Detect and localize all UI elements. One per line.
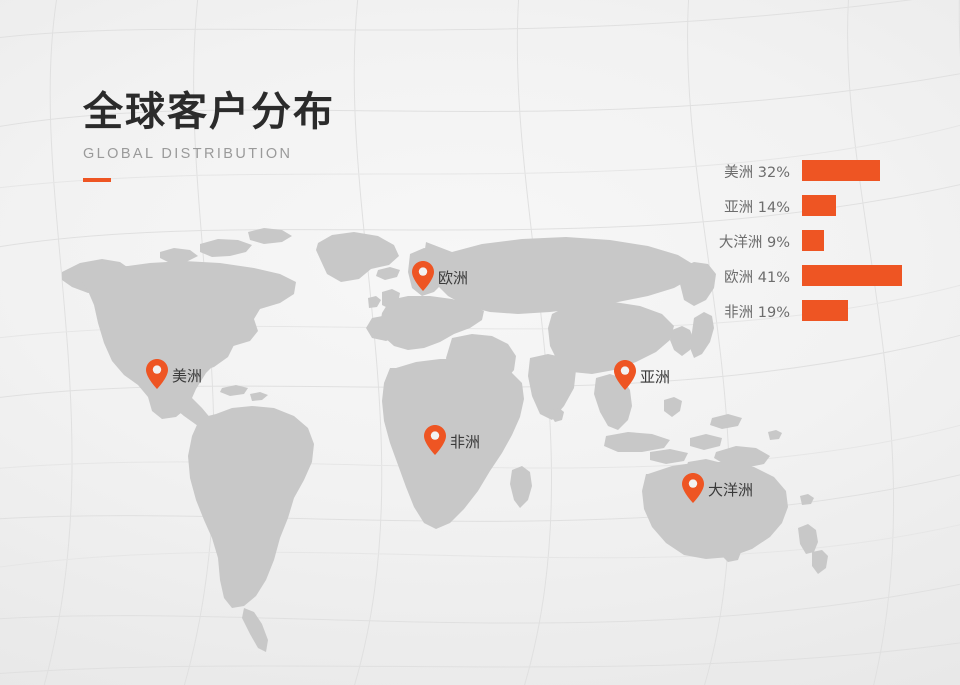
chart-row: 亚洲 14% — [700, 194, 940, 222]
map-marker-label: 亚洲 — [640, 366, 670, 387]
page-title: 全球客户分布 — [83, 92, 335, 132]
map-marker-label: 非洲 — [450, 431, 480, 452]
chart-bar — [802, 300, 848, 321]
chart-row-label: 大洋洲 9% — [719, 231, 790, 252]
distribution-bar-chart: 美洲 32%亚洲 14%大洋洲 9%欧洲 41%非洲 19% — [700, 150, 940, 330]
chart-row-label: 非洲 19% — [724, 301, 790, 322]
chart-bar — [802, 230, 824, 251]
map-pin-icon — [146, 359, 168, 389]
map-marker-label: 大洋洲 — [708, 479, 753, 500]
chart-bar — [802, 265, 902, 286]
chart-row: 美洲 32% — [700, 159, 940, 187]
chart-row-label: 欧洲 41% — [724, 266, 790, 287]
map-pin-icon — [424, 425, 446, 455]
accent-rule — [83, 178, 111, 182]
map-marker-label: 欧洲 — [438, 267, 468, 288]
chart-bar — [802, 195, 836, 216]
chart-row-label: 美洲 32% — [724, 161, 790, 182]
map-pin-icon — [682, 473, 704, 503]
chart-row: 非洲 19% — [700, 299, 940, 327]
slide-canvas: 全球客户分布 GLOBAL DISTRIBUTION 美洲欧洲非洲亚洲大洋洲 美… — [0, 0, 960, 685]
chart-row-label: 亚洲 14% — [724, 196, 790, 217]
chart-row: 欧洲 41% — [700, 264, 940, 292]
header-block: 全球客户分布 GLOBAL DISTRIBUTION — [83, 92, 335, 182]
chart-row: 大洋洲 9% — [700, 229, 940, 257]
map-pin-icon — [614, 360, 636, 390]
page-subtitle: GLOBAL DISTRIBUTION — [83, 146, 335, 162]
map-pin-icon — [412, 261, 434, 291]
map-marker-label: 美洲 — [172, 365, 202, 386]
chart-bar — [802, 160, 880, 181]
